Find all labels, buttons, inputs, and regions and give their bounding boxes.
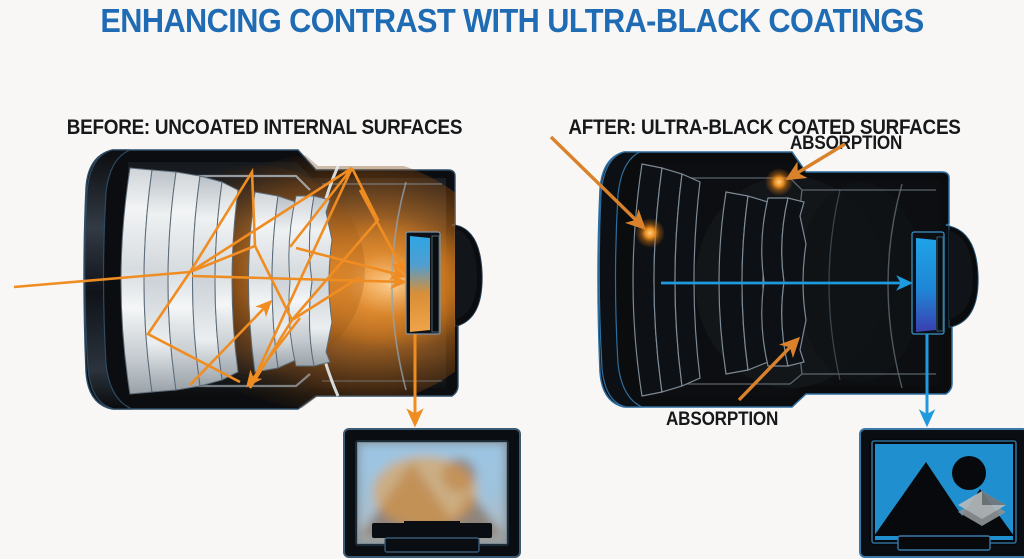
monitor-high-contrast [860,429,1024,557]
image-sensor-clean [912,232,944,334]
monitor-low-contrast [344,429,520,557]
ultra-black-coated-lens-cross-section [551,137,978,424]
uncoated-lens-cross-section [14,150,505,424]
middle-lens-elements [249,192,333,372]
monitor-left-base [385,538,479,552]
monitor-left-base-top [372,523,492,538]
front-lens-elements [121,168,238,394]
monitor-right-base [898,536,990,550]
absorption-glow-dot-top [765,168,793,196]
image-sensor-flared [406,232,440,334]
infographic-canvas: ENHANCING CONTRAST WITH ULTRA-BLACK COAT… [0,0,1024,559]
front-lens-elements-right [633,164,700,396]
diagram-artwork [0,0,1024,559]
